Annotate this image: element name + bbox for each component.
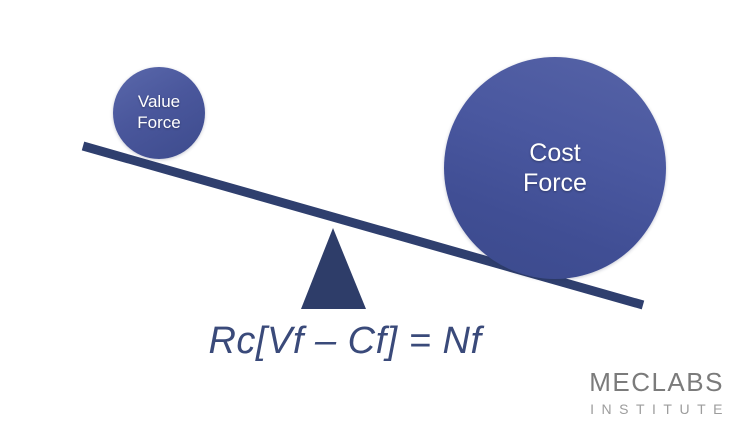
- value-force-label-line1: Value: [138, 92, 180, 113]
- formula-text: Rc[Vf – Cf] = Nf: [0, 320, 690, 363]
- fulcrum-triangle: [301, 228, 366, 309]
- value-force-label-line2: Force: [137, 113, 180, 134]
- logo-subtitle: INSTITUTE: [583, 402, 730, 416]
- cost-force-circle: Cost Force: [444, 57, 666, 279]
- logo-wordmark: MECLABS: [583, 369, 730, 395]
- value-force-circle: Value Force: [113, 67, 205, 159]
- cost-force-label-line1: Cost: [529, 138, 580, 169]
- meclabs-logo: MECLABS INSTITUTE: [583, 369, 730, 416]
- cost-force-label-line2: Force: [523, 168, 587, 199]
- diagram-canvas: Value Force Cost Force Rc[Vf – Cf] = Nf …: [0, 0, 750, 430]
